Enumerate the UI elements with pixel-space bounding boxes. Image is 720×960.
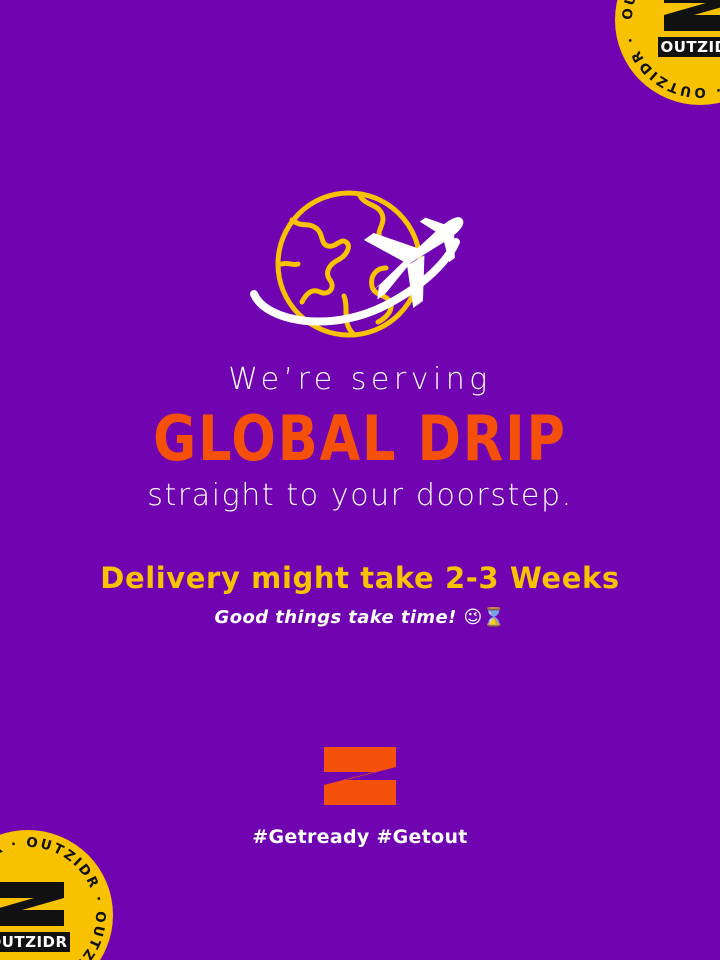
subheading-text: straight to your doorstep. <box>0 476 720 516</box>
poster-canvas: OUTZIDR · OUTZIDR · OUTZIDR · OUTZIDR · … <box>0 0 720 960</box>
seal-wordmark: OUTZIDR <box>660 38 720 56</box>
seal-wordmark: OUTZIDR <box>0 933 68 951</box>
delivery-notice: Delivery might take 2-3 Weeks <box>0 560 720 596</box>
outzidr-seal-bottom-left: OUTZIDR · OUTZIDR · OUTZIDR · OUTZIDR · … <box>0 830 113 960</box>
footer-block: #Getready #Getout <box>0 745 720 848</box>
wink-hourglass-emoji: 😉⌛ <box>463 607 505 628</box>
outzidr-z-logo-icon <box>320 745 400 807</box>
seal-z-mark: OUTZIDR <box>0 882 70 952</box>
tagline-row: Good things take time! 😉⌛ <box>0 605 720 631</box>
globe-plane-illustration <box>236 176 484 348</box>
orbit-swoosh <box>254 242 456 322</box>
globe-icon <box>278 193 420 335</box>
page-title: GLOBAL DRIP <box>22 406 699 472</box>
outzidr-seal-top-right: OUTZIDR · OUTZIDR · OUTZIDR · OUTZIDR · … <box>615 0 720 105</box>
airplane-icon <box>338 186 484 327</box>
eyebrow-text: We’re serving <box>0 360 720 400</box>
tagline-text: Good things take time! <box>215 607 457 628</box>
hashtags-text: #Getready #Getout <box>0 826 720 848</box>
copy-block: We’re serving GLOBAL DRIP straight to yo… <box>0 360 720 631</box>
